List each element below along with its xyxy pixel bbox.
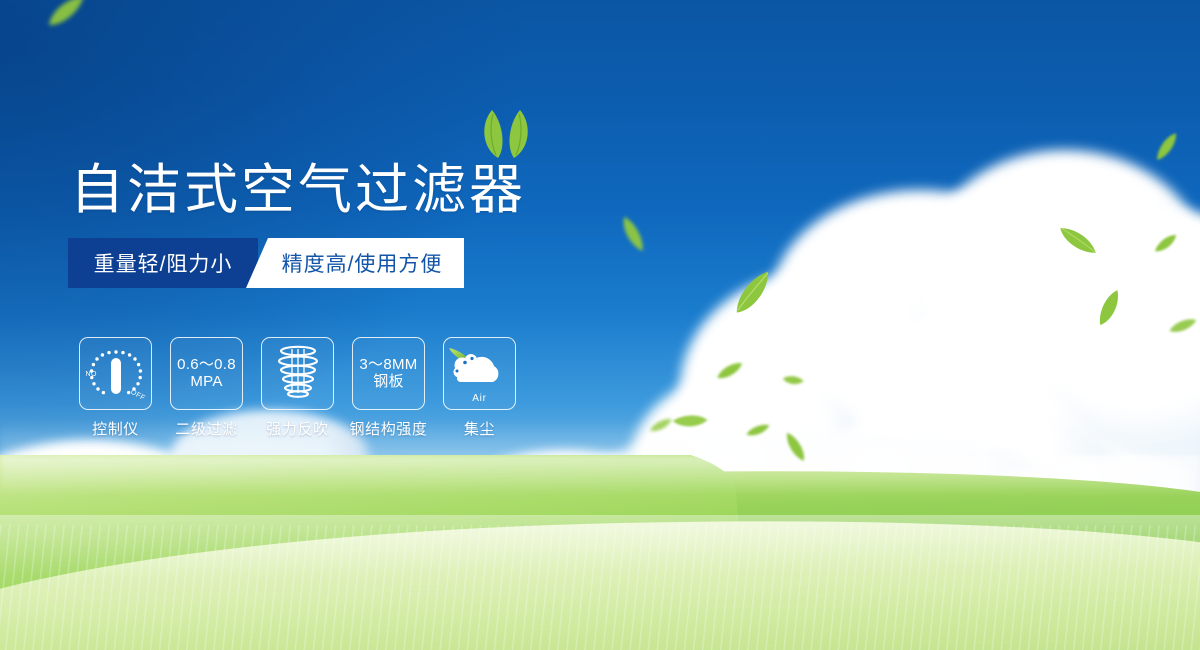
feature-icon-box: Air [443,337,516,410]
feature-text-line2: MPA [177,374,236,391]
feature-icon-box: 0.6～0.8 MPA [170,337,243,410]
filter-cartridge-icon [272,343,324,404]
feature-item-controller[interactable]: NO OFF 控制仪 [78,337,153,439]
feature-item-steel-strength[interactable]: 3～8MM 钢板 钢结构强度 [351,337,426,439]
feature-icon-box: NO OFF [79,337,152,410]
pressure-text-icon: 0.6～0.8 MPA [177,357,236,391]
feature-text-line2: 钢板 [359,374,417,391]
feature-caption: 控制仪 [92,418,139,439]
subtitle-right-text: 精度高/使用方便 [268,248,443,278]
grass-field [0,455,1200,650]
grass-sheen [0,515,1200,650]
product-banner: 自洁式空气过滤器 重量轻/阻力小 精度高/使用方便 [0,0,1200,650]
feature-item-dust-collection[interactable]: Air 集尘 [442,337,517,439]
feature-icon-box: 3～8MM 钢板 [352,337,425,410]
air-label: Air [472,393,487,404]
feature-list: NO OFF 控制仪 0.6～0.8 MPA 二级过滤 [78,337,517,439]
subtitle-left-text: 重量轻/阻力小 [94,248,233,278]
subtitle-band: 重量轻/阻力小 精度高/使用方便 [68,238,464,288]
feature-icon-box [261,337,334,410]
gauge-needle [111,358,121,394]
feature-caption: 二级过滤 [175,418,237,439]
cloud-air-icon [449,348,511,392]
subtitle-left-panel: 重量轻/阻力小 [68,238,258,288]
feature-caption: 强力反吹 [266,418,328,439]
feature-caption: 集尘 [464,418,495,439]
steel-plate-text-icon: 3～8MM 钢板 [359,357,417,391]
gauge-icon: NO OFF [87,346,145,402]
subtitle-right-panel: 精度高/使用方便 [246,238,464,288]
feature-caption: 钢结构强度 [350,418,428,439]
feature-text-line1: 3～8MM [359,356,417,373]
feature-text-line1: 0.6～0.8 [177,356,236,373]
gauge-on-label: NO [86,371,98,378]
feature-item-two-stage-filter[interactable]: 0.6～0.8 MPA 二级过滤 [169,337,244,439]
feature-item-reverse-blow[interactable]: 强力反吹 [260,337,335,439]
grass-top-blend [0,455,1200,495]
page-title: 自洁式空气过滤器 [70,145,526,224]
